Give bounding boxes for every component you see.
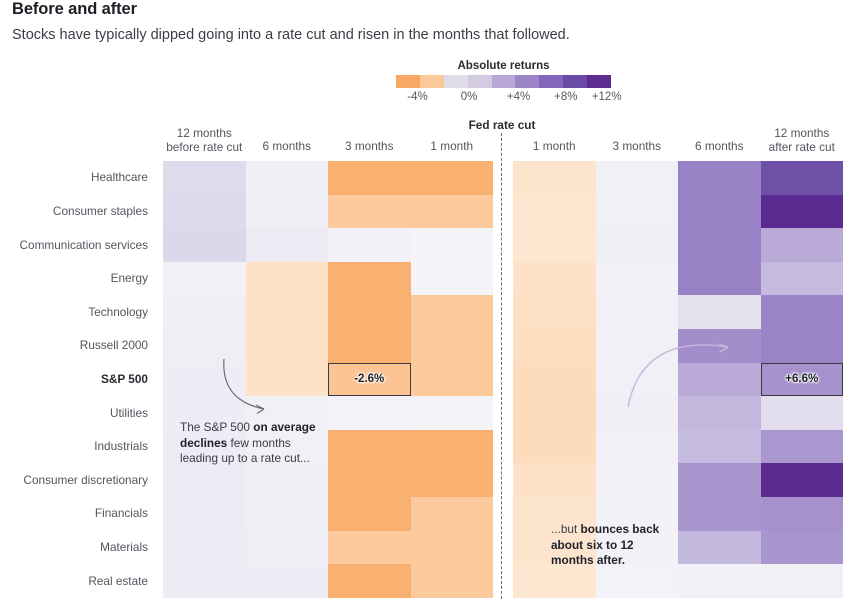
heatmap-cell[interactable] [513, 430, 596, 464]
legend-swatch-5 [515, 75, 539, 88]
heatmap-cell[interactable] [596, 161, 679, 195]
annotation-after: ...but bounces back about six to 12 mont… [551, 522, 676, 569]
legend-tick-0: -4% [407, 91, 427, 103]
heatmap-cell[interactable] [163, 531, 246, 565]
heatmap-chart: Fed rate cut 12 monthsbefore rate cut6 m… [0, 115, 862, 599]
row-label-healthcare: Healthcare [0, 170, 156, 184]
column-header-line-2: before rate cut [166, 141, 242, 155]
heatmap-cell[interactable] [411, 463, 494, 497]
heatmap-cell[interactable] [411, 161, 494, 195]
column-header-3: 1 month [430, 140, 473, 154]
heatmap-cell[interactable] [328, 396, 411, 430]
heatmap-cell[interactable] [596, 228, 679, 262]
heatmap-cell[interactable] [328, 161, 411, 195]
heatmap-cell[interactable] [328, 531, 411, 565]
column-header-line-1: 1 month [533, 140, 576, 154]
heatmap-cell[interactable] [411, 363, 494, 397]
row-label-financials: Financials [0, 506, 156, 520]
annotation-after-text-1: ...but [551, 522, 581, 536]
row-label-energy: Energy [0, 271, 156, 285]
column-header-5: 3 months [612, 140, 661, 154]
row-label-consumer-staples: Consumer staples [0, 204, 156, 218]
legend-swatch-7 [563, 75, 587, 88]
heatmap-cell[interactable] [761, 463, 844, 497]
column-header-2: 3 months [345, 140, 394, 154]
row-label-real-estate: Real estate [0, 574, 156, 588]
heatmap-cell[interactable] [246, 161, 329, 195]
fed-rate-cut-label: Fed rate cut [469, 118, 536, 132]
heatmap-cell[interactable] [246, 531, 329, 565]
heatmap-cell[interactable] [411, 430, 494, 464]
heatmap-cell[interactable] [596, 262, 679, 296]
heatmap-cell[interactable] [411, 497, 494, 531]
column-header-line-1: 12 months [769, 127, 835, 141]
heatmap-cell[interactable] [246, 262, 329, 296]
column-header-6: 6 months [695, 140, 744, 154]
column-header-line-2: after rate cut [769, 141, 835, 155]
heatmap-cell[interactable] [163, 295, 246, 329]
heatmap-cell[interactable] [761, 262, 844, 296]
legend-tick-2: +4% [507, 91, 530, 103]
heatmap-cell[interactable] [678, 564, 761, 598]
heatmap-cell[interactable] [411, 195, 494, 229]
heatmap-cell[interactable] [596, 430, 679, 464]
heatmap-cell[interactable] [513, 295, 596, 329]
annotation-before: The S&P 500 on average declines few mont… [180, 420, 320, 467]
heatmap-cell[interactable] [513, 329, 596, 363]
legend-swatch-0 [396, 75, 420, 88]
heatmap-cell[interactable] [163, 329, 246, 363]
heatmap-cell[interactable] [596, 396, 679, 430]
legend-swatch-6 [539, 75, 563, 88]
heatmap-cell[interactable] [761, 497, 844, 531]
heatmap-cell[interactable] [678, 531, 761, 565]
column-header-1: 6 months [262, 140, 311, 154]
heatmap-cell[interactable] [678, 161, 761, 195]
heatmap-cell[interactable] [328, 497, 411, 531]
heatmap-cell[interactable] [246, 228, 329, 262]
heatmap-cell[interactable] [513, 363, 596, 397]
highlighted-cell-value-0: -2.6% [354, 373, 384, 385]
column-header-4: 1 month [533, 140, 576, 154]
heatmap-cell[interactable] [328, 329, 411, 363]
row-label-russell-2000: Russell 2000 [0, 338, 156, 352]
heatmap-cell[interactable] [596, 463, 679, 497]
heatmap-cell[interactable] [411, 262, 494, 296]
legend-swatch-1 [420, 75, 444, 88]
heatmap-cell[interactable] [163, 228, 246, 262]
heatmap-cell[interactable] [513, 262, 596, 296]
heatmap-cell[interactable] [328, 463, 411, 497]
row-label-utilities: Utilities [0, 406, 156, 420]
column-header-line-1: 12 months [166, 127, 242, 141]
legend-swatch-2 [444, 75, 468, 88]
heatmap-cell[interactable] [678, 195, 761, 229]
heatmap-cell[interactable] [678, 329, 761, 363]
heatmap-cell[interactable] [163, 161, 246, 195]
heatmap-cell[interactable] [163, 497, 246, 531]
legend-swatch-8 [587, 75, 611, 88]
legend-tick-labels: -4%0%+4%+8%+12% [396, 91, 611, 107]
heatmap-cell[interactable] [163, 262, 246, 296]
heatmap-cell[interactable] [328, 564, 411, 598]
heatmap-cell[interactable] [328, 295, 411, 329]
heatmap-cell[interactable] [246, 463, 329, 497]
heatmap-cell[interactable] [411, 396, 494, 430]
heatmap-cell[interactable] [513, 195, 596, 229]
heatmap-cell[interactable] [246, 295, 329, 329]
heatmap-cell[interactable] [761, 329, 844, 363]
heatmap-cell[interactable] [596, 295, 679, 329]
row-label-communication-services: Communication services [0, 238, 156, 252]
heatmap-cell[interactable] [596, 195, 679, 229]
heatmap-cell[interactable] [411, 329, 494, 363]
heatmap-cell[interactable] [761, 396, 844, 430]
heatmap-cell[interactable] [596, 564, 679, 598]
heatmap-cell[interactable] [596, 329, 679, 363]
heatmap-cell[interactable] [678, 430, 761, 464]
heatmap-cell[interactable] [678, 262, 761, 296]
heatmap-cell[interactable] [513, 564, 596, 598]
heatmap-cell[interactable] [163, 463, 246, 497]
column-header-0: 12 monthsbefore rate cut [166, 127, 242, 154]
legend-tick-4: +12% [592, 91, 622, 103]
heatmap-cell[interactable] [411, 531, 494, 565]
column-header-line-1: 6 months [695, 140, 744, 154]
heatmap-cell[interactable] [596, 363, 679, 397]
legend-swatch-4 [492, 75, 516, 88]
heatmap-cell[interactable] [761, 564, 844, 598]
row-label-industrials: Industrials [0, 439, 156, 453]
legend-swatches [396, 75, 611, 88]
legend-tick-1: 0% [461, 91, 478, 103]
column-header-line-1: 6 months [262, 140, 311, 154]
heatmap-cell[interactable] [513, 396, 596, 430]
heatmap-cell[interactable] [678, 396, 761, 430]
heatmap-cell[interactable] [411, 564, 494, 598]
heatmap-cell[interactable] [246, 564, 329, 598]
heatmap-cell[interactable] [328, 228, 411, 262]
heatmap-cell[interactable] [246, 363, 329, 397]
heatmap-cell[interactable] [328, 430, 411, 464]
page-subtitle: Stocks have typically dipped going into … [12, 27, 570, 43]
heatmap-cell[interactable] [163, 195, 246, 229]
row-label-consumer-discretionary: Consumer discretionary [0, 473, 156, 487]
column-header-line-1: 3 months [345, 140, 394, 154]
legend-tick-3: +8% [554, 91, 577, 103]
column-header-7: 12 monthsafter rate cut [769, 127, 835, 154]
annotation-before-text-1: The S&P 500 [180, 420, 253, 434]
color-legend: Absolute returns -4%0%+4%+8%+12% [396, 60, 611, 107]
column-header-line-1: 1 month [430, 140, 473, 154]
heatmap-cell[interactable] [761, 228, 844, 262]
heatmap-cell[interactable] [513, 228, 596, 262]
heatmap-cell[interactable] [411, 228, 494, 262]
heatmap-cell[interactable] [761, 430, 844, 464]
heatmap-cell[interactable] [246, 497, 329, 531]
row-label-technology: Technology [0, 305, 156, 319]
fed-rate-cut-divider [501, 133, 502, 599]
highlighted-cell-value-1: +6.6% [785, 373, 818, 385]
heatmap-cell[interactable] [678, 228, 761, 262]
heatmap-cell[interactable] [678, 295, 761, 329]
legend-swatch-3 [468, 75, 492, 88]
row-label-s-p-500: S&P 500 [0, 372, 156, 386]
heatmap-cell[interactable] [411, 295, 494, 329]
heatmap-cell[interactable] [761, 161, 844, 195]
heatmap-cell[interactable] [328, 195, 411, 229]
heatmap-page: Before and after Stocks have typically d… [0, 0, 862, 599]
heatmap-cell[interactable] [678, 363, 761, 397]
column-header-line-1: 3 months [612, 140, 661, 154]
heatmap-cell[interactable] [328, 262, 411, 296]
heatmap-cell[interactable] [761, 531, 844, 565]
heatmap-cell[interactable] [246, 329, 329, 363]
heatmap-cell[interactable] [513, 463, 596, 497]
row-label-materials: Materials [0, 540, 156, 554]
heatmap-cell[interactable] [246, 195, 329, 229]
heatmap-cell[interactable] [678, 497, 761, 531]
heatmap-cell[interactable] [163, 564, 246, 598]
heatmap-cell[interactable] [761, 195, 844, 229]
heatmap-cell[interactable] [761, 295, 844, 329]
heatmap-cell[interactable] [163, 363, 246, 397]
page-title: Before and after [12, 0, 137, 19]
heatmap-cell[interactable] [513, 161, 596, 195]
heatmap-cell[interactable] [678, 463, 761, 497]
legend-title: Absolute returns [396, 60, 611, 72]
